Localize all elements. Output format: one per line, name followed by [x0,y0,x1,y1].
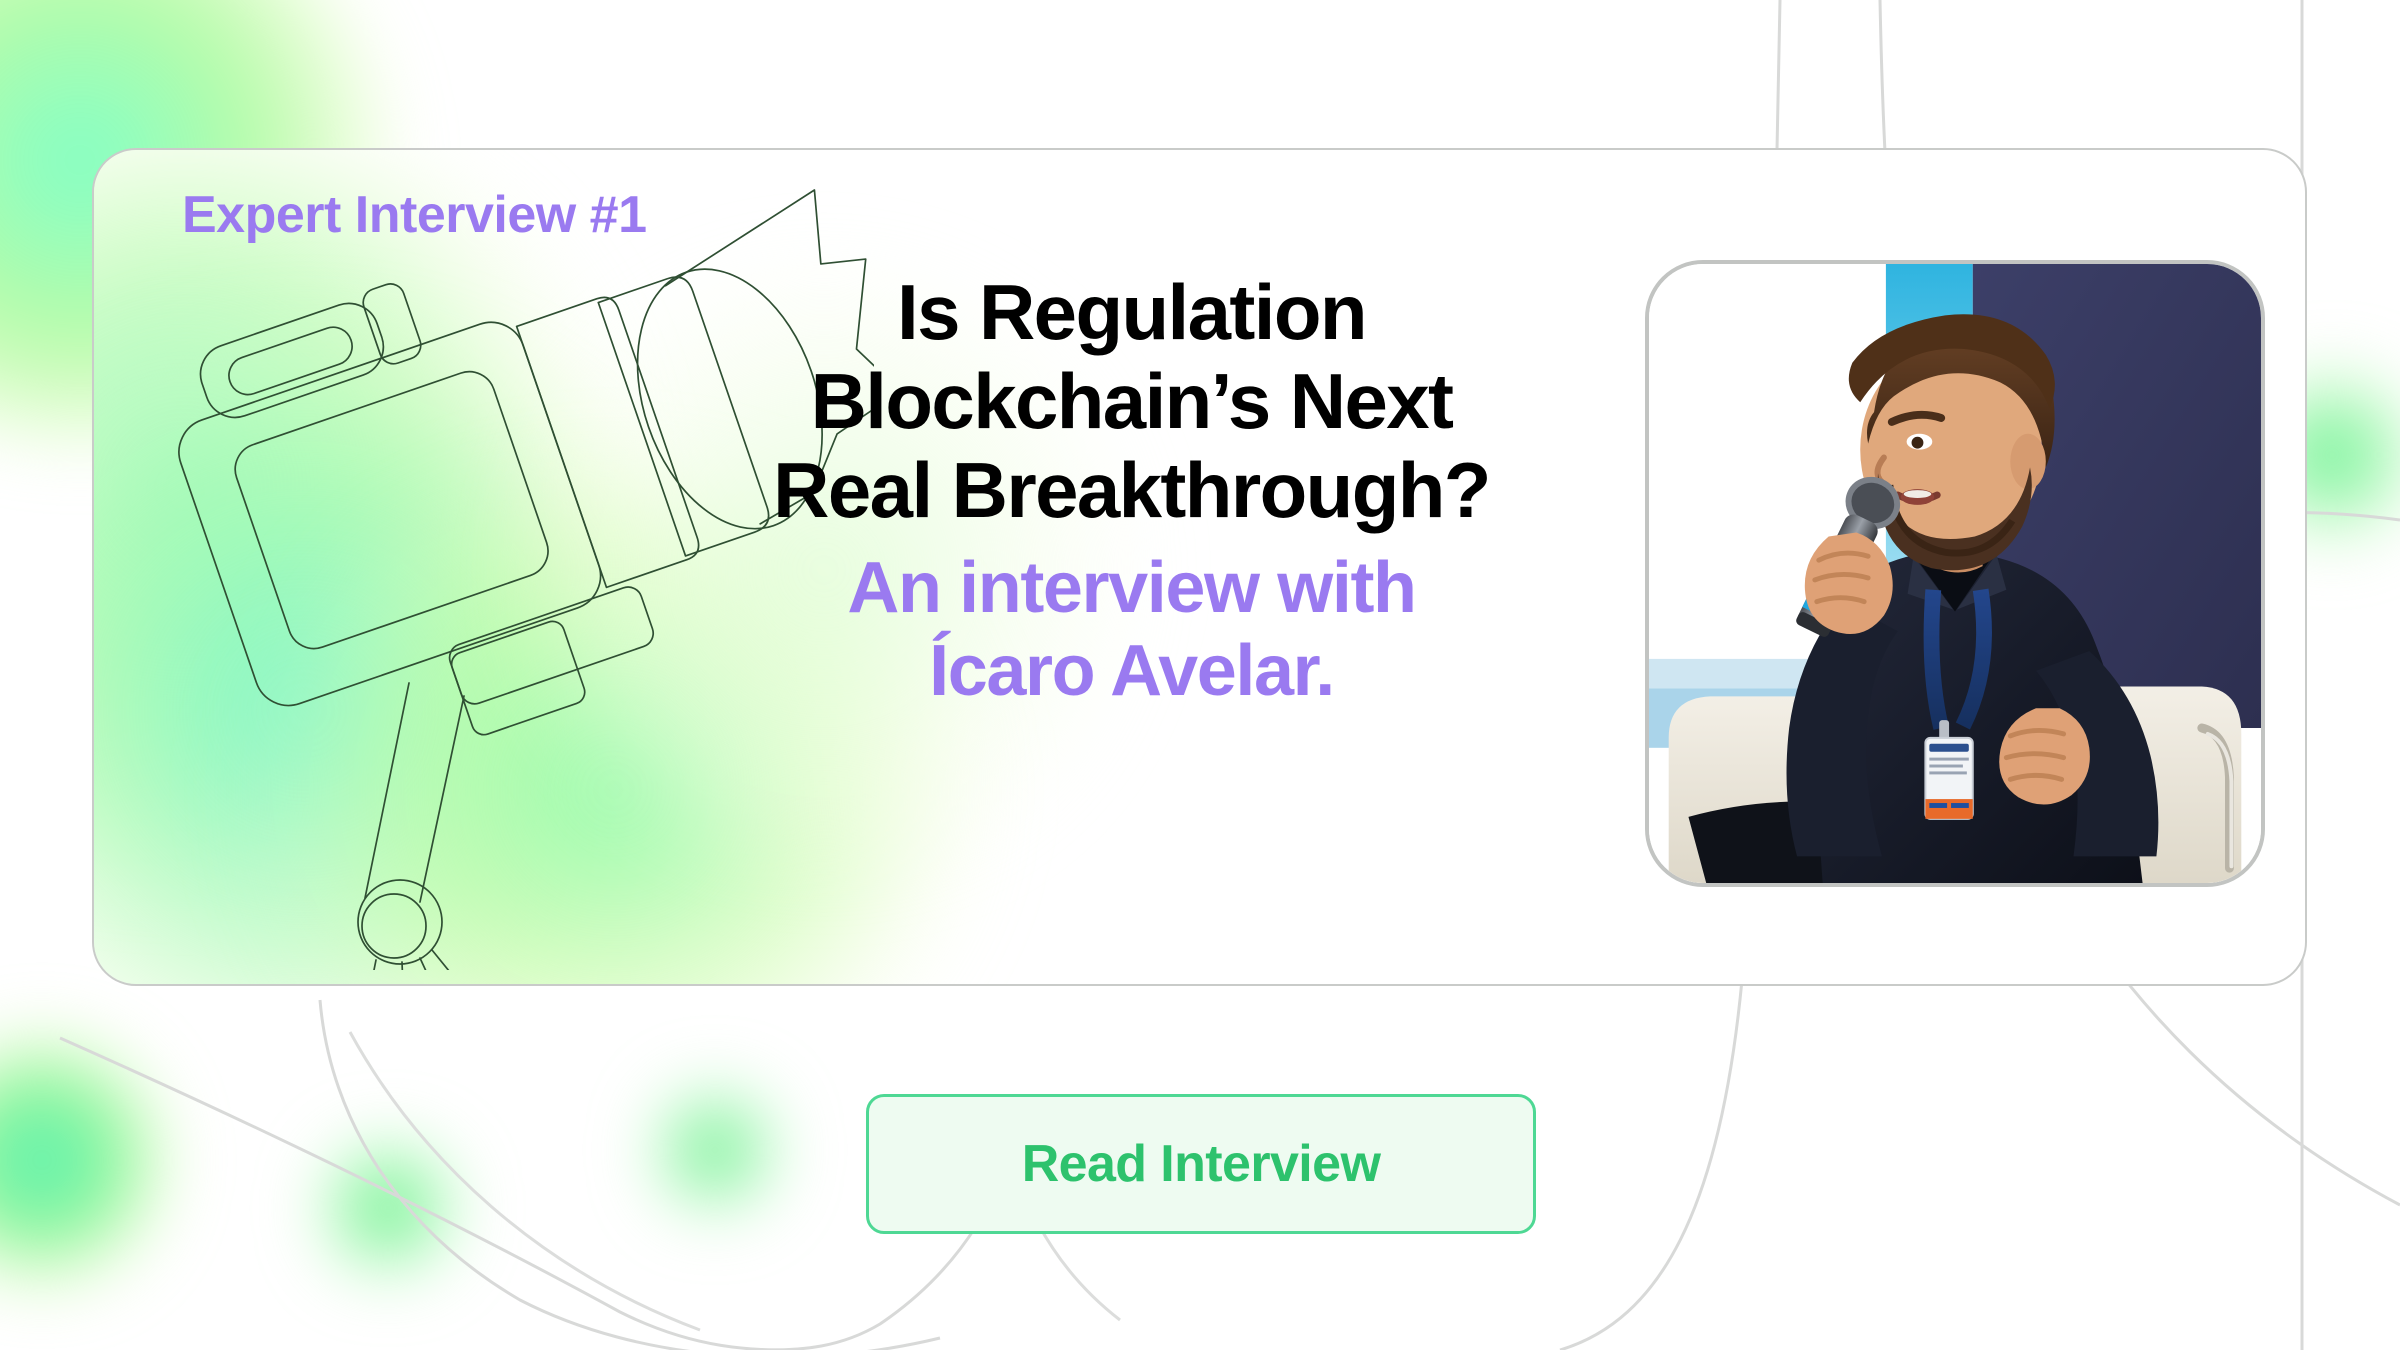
glow-orb-bottom-left [0,1035,162,1285]
headline-line-1: Is Regulation [684,268,1579,357]
headline-line-2: Blockchain’s Next [684,357,1579,446]
promo-banner: Expert Interview #1 Is Regulation Blockc… [0,0,2400,1350]
interviewee-photo-image [1649,264,2261,883]
interview-card: Expert Interview #1 Is Regulation Blockc… [92,148,2307,986]
subheadline-line-1: An interview with [684,547,1579,631]
subheadline: An interview with Ícaro Avelar. [684,547,1579,714]
eyebrow-label: Expert Interview #1 [182,185,647,245]
glow-orb-bottom-mid [322,1140,454,1276]
glow-orb-bottom-right [655,1085,775,1215]
headline-line-3: Real Breakthrough? [684,446,1579,535]
read-interview-label: Read Interview [1022,1134,1381,1194]
headline-block: Is Regulation Blockchain’s Next Real Bre… [684,268,1579,714]
subheadline-line-2: Ícaro Avelar. [684,630,1579,714]
interviewee-photo [1645,260,2265,887]
page-title: Is Regulation Blockchain’s Next Real Bre… [684,268,1579,535]
read-interview-button[interactable]: Read Interview [866,1094,1536,1234]
